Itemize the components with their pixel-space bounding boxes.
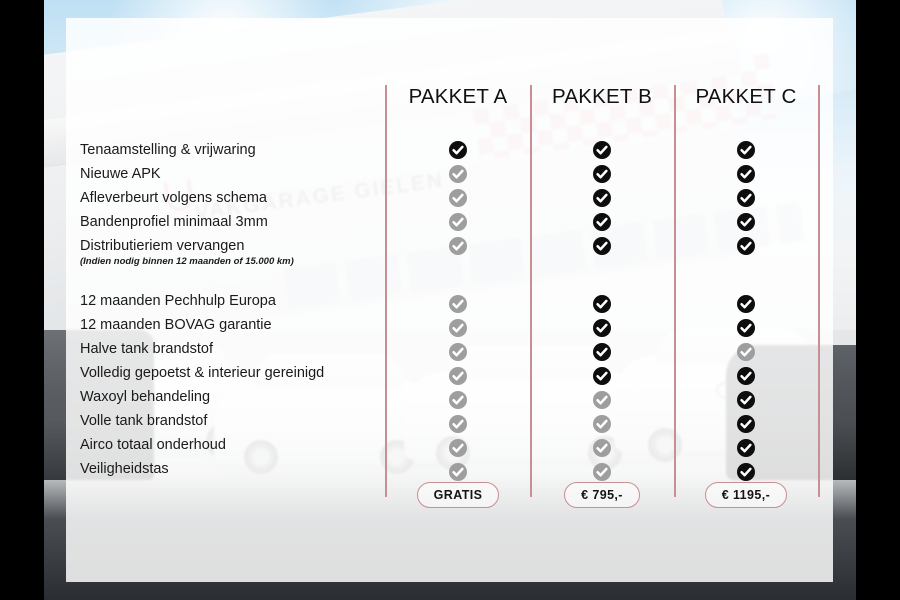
- price-pill-pakket-b: € 795,-: [530, 482, 674, 508]
- check-group-gap: [386, 258, 530, 292]
- check-badge: [449, 391, 467, 409]
- column-header-pakket-a: PAKKET A: [386, 85, 530, 109]
- check-cell: [674, 138, 818, 162]
- check-badge: [593, 463, 611, 481]
- check-cell: [674, 186, 818, 210]
- check-badge: [449, 439, 467, 457]
- check-cell: [386, 340, 530, 364]
- check-cell: [530, 316, 674, 340]
- check-group-gap: [674, 258, 818, 292]
- feature-label: Volledig gepoetst & interieur gereinigd: [80, 361, 380, 385]
- check-badge: [593, 439, 611, 457]
- check-column-pakket-a: [386, 138, 530, 484]
- check-badge: [737, 415, 755, 433]
- check-cell: [674, 364, 818, 388]
- check-badge: [593, 189, 611, 207]
- check-badge: [449, 319, 467, 337]
- feature-label: Halve tank brandstof: [80, 337, 380, 361]
- check-cell: [530, 162, 674, 186]
- feature-group-gap: [80, 268, 380, 289]
- check-badge: [449, 141, 467, 159]
- check-column-pakket-c: [674, 138, 818, 484]
- check-cell: [530, 138, 674, 162]
- feature-label: Tenaamstelling & vrijwaring: [80, 138, 380, 162]
- column-divider: [818, 85, 820, 497]
- check-cell: [386, 186, 530, 210]
- check-cell: [386, 460, 530, 484]
- check-badge: [737, 343, 755, 361]
- feature-label: Nieuwe APK: [80, 162, 380, 186]
- check-column-pakket-b: [530, 138, 674, 484]
- check-badge: [449, 415, 467, 433]
- check-cell: [386, 138, 530, 162]
- check-cell: [386, 364, 530, 388]
- package-comparison-table: PAKKET A PAKKET B PAKKET C Tenaamstellin…: [66, 18, 833, 582]
- check-cell: [674, 412, 818, 436]
- check-badge: [737, 213, 755, 231]
- check-cell: [530, 364, 674, 388]
- check-badge: [449, 189, 467, 207]
- feature-label: Afleverbeurt volgens schema: [80, 186, 380, 210]
- check-badge: [737, 295, 755, 313]
- feature-note: (Indien nodig binnen 12 maanden of 15.00…: [80, 255, 380, 268]
- check-cell: [530, 234, 674, 258]
- check-badge: [737, 189, 755, 207]
- feature-label: Veiligheidstas: [80, 457, 380, 481]
- check-cell: [386, 292, 530, 316]
- feature-label: Volle tank brandstof: [80, 409, 380, 433]
- check-group-gap: [530, 258, 674, 292]
- check-badge: [449, 237, 467, 255]
- check-cell: [674, 388, 818, 412]
- check-cell: [530, 186, 674, 210]
- check-cell: [674, 436, 818, 460]
- check-badge: [449, 367, 467, 385]
- feature-label: Airco totaal onderhoud: [80, 433, 380, 457]
- check-cell: [530, 340, 674, 364]
- check-cell: [674, 316, 818, 340]
- feature-label: 12 maanden Pechhulp Europa: [80, 289, 380, 313]
- check-badge: [737, 463, 755, 481]
- check-cell: [530, 436, 674, 460]
- check-badge: [593, 141, 611, 159]
- check-cell: [530, 210, 674, 234]
- check-cell: [674, 340, 818, 364]
- price-button-pakket-b[interactable]: € 795,-: [564, 482, 640, 508]
- check-badge: [593, 213, 611, 231]
- check-cell: [674, 162, 818, 186]
- price-pill-pakket-c: € 1195,-: [674, 482, 818, 508]
- check-cell: [530, 460, 674, 484]
- check-cell: [386, 436, 530, 460]
- check-badge: [593, 391, 611, 409]
- check-cell: [386, 412, 530, 436]
- check-cell: [674, 234, 818, 258]
- check-cell: [530, 412, 674, 436]
- check-cell: [530, 292, 674, 316]
- check-badge: [449, 213, 467, 231]
- check-badge: [737, 367, 755, 385]
- check-badge: [593, 343, 611, 361]
- check-badge: [593, 415, 611, 433]
- check-cell: [386, 162, 530, 186]
- column-header-pakket-b: PAKKET B: [530, 85, 674, 109]
- check-badge: [593, 295, 611, 313]
- feature-label: Waxoyl behandeling: [80, 385, 380, 409]
- check-badge: [593, 237, 611, 255]
- check-badge: [449, 295, 467, 313]
- price-button-pakket-c[interactable]: € 1195,-: [705, 482, 787, 508]
- check-badge: [593, 367, 611, 385]
- check-badge: [737, 391, 755, 409]
- check-badge: [449, 463, 467, 481]
- column-header-pakket-c: PAKKET C: [674, 85, 818, 109]
- check-cell: [674, 292, 818, 316]
- check-cell: [386, 316, 530, 340]
- price-button-pakket-a[interactable]: GRATIS: [417, 482, 500, 508]
- feature-label-column: Tenaamstelling & vrijwaringNieuwe APKAfl…: [80, 138, 380, 481]
- feature-label: Bandenprofiel minimaal 3mm: [80, 210, 380, 234]
- check-badge: [737, 165, 755, 183]
- check-cell: [386, 210, 530, 234]
- check-cell: [386, 388, 530, 412]
- check-badge: [449, 165, 467, 183]
- check-badge: [737, 237, 755, 255]
- check-badge: [593, 165, 611, 183]
- check-badge: [737, 439, 755, 457]
- check-cell: [386, 234, 530, 258]
- screenshot-root: VAKGARAGE GIELEN PAKKET A PAKKET B PAKKE…: [0, 0, 900, 600]
- check-badge: [737, 141, 755, 159]
- check-cell: [674, 210, 818, 234]
- check-badge: [593, 319, 611, 337]
- feature-label: 12 maanden BOVAG garantie: [80, 313, 380, 337]
- check-badge: [449, 343, 467, 361]
- comparison-card: PAKKET A PAKKET B PAKKET C Tenaamstellin…: [66, 18, 833, 582]
- check-badge: [737, 319, 755, 337]
- check-cell: [530, 388, 674, 412]
- check-cell: [674, 460, 818, 484]
- price-pill-pakket-a: GRATIS: [386, 482, 530, 508]
